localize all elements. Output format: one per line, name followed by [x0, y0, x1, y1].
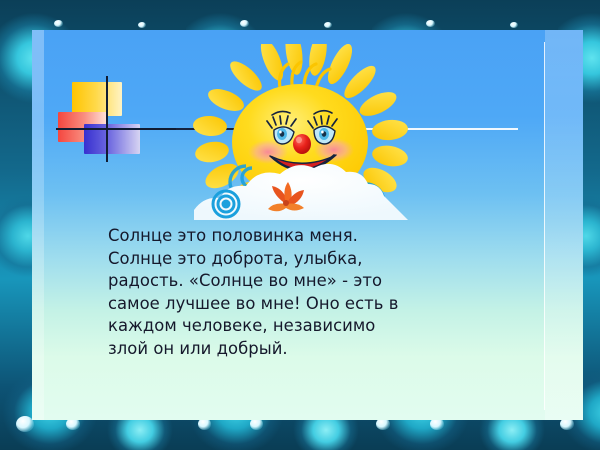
- decorative-squares-cluster: [58, 82, 154, 160]
- bokeh-pearl: [426, 20, 435, 27]
- sun-nose: [293, 134, 311, 154]
- crosshair-vertical-icon: [106, 76, 108, 162]
- yellow-square-icon: [72, 82, 122, 116]
- crosshair-horizontal-icon: [56, 128, 176, 130]
- bokeh-pearl: [324, 22, 332, 28]
- bokeh-pearl: [240, 20, 249, 27]
- panel-vertical-rule: [544, 42, 545, 410]
- bokeh-pearl: [510, 22, 518, 28]
- bokeh-pearl: [138, 22, 146, 28]
- panel-left-rail: [32, 30, 44, 420]
- slide-body-text: Солнце это половинка меня. Солнце это до…: [108, 225, 420, 361]
- slide-screenshot: Солнце это половинка меня. Солнце это до…: [0, 0, 600, 450]
- bokeh-pearl: [54, 20, 63, 27]
- panel-right-rail: [545, 30, 583, 420]
- sun-nose-highlight: [296, 137, 302, 143]
- spiral-icon: [213, 191, 239, 217]
- smiling-sun-illustration: [168, 44, 418, 220]
